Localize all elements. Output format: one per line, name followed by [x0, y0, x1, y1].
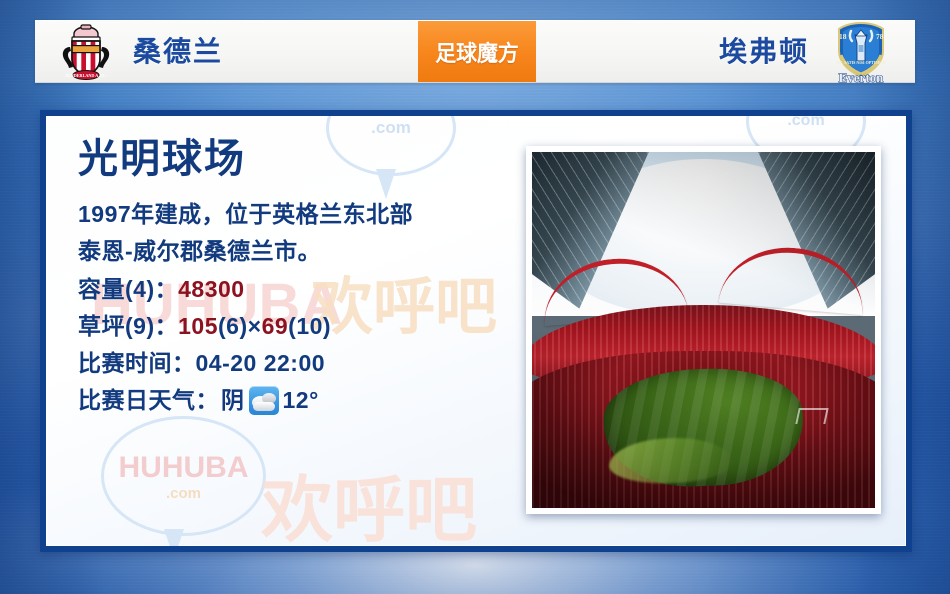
capacity-label: 容量(4)： — [78, 276, 178, 302]
stadium-description-line-2: 泰恩-威尔郡桑德兰市。 — [78, 233, 498, 270]
pitch-times-symbol: × — [248, 313, 262, 339]
stadium-pitch-row: 草坪(9)：105(6)×69(10) — [78, 308, 498, 345]
match-weather-row: 比赛日天气：阴 12° — [78, 382, 498, 419]
match-time-label: 比赛时间： — [78, 350, 196, 376]
watermark-bubble-left: HUHUBA .com — [101, 416, 266, 536]
watermark-domain-left: .com — [166, 485, 201, 502]
pitch-label: 草坪(9)： — [78, 313, 178, 339]
watermark-domain-top: .com — [371, 118, 411, 138]
match-time-row: 比赛时间：04-20 22:00 — [78, 345, 498, 382]
svg-text:Everton: Everton — [839, 70, 885, 83]
stadium-photo-frame[interactable] — [526, 146, 881, 514]
pitch-width-rank: (10) — [288, 313, 331, 339]
match-header-bar: SUNDERLAND A.F.C. 桑德兰 足球魔方 埃弗顿 18 78 — [35, 20, 915, 83]
home-team-name: 桑德兰 — [133, 38, 223, 66]
weather-condition: 阴 — [221, 382, 245, 419]
photo-shading — [532, 152, 875, 508]
stadium-title: 光明球场 — [78, 138, 498, 180]
pitch-width-value: 69 — [262, 313, 289, 339]
site-logo-text: 足球魔方 — [435, 36, 519, 68]
pitch-length-rank: (6) — [218, 313, 248, 339]
svg-text:18: 18 — [839, 32, 847, 41]
svg-text:SUNDERLAND A.F.C.: SUNDERLAND A.F.C. — [65, 73, 106, 78]
away-team-name: 埃弗顿 — [719, 38, 809, 66]
watermark-domain-topright: .com — [787, 112, 824, 130]
watermark-brand-en-left: HUHUBA — [119, 451, 249, 485]
stadium-description-line-1: 1997年建成，位于英格兰东北部 — [78, 196, 498, 233]
match-time-value: 04-20 22:00 — [196, 350, 326, 376]
weather-label: 比赛日天气： — [78, 382, 219, 419]
svg-text:NIL SATIS NISI OPTIMUM: NIL SATIS NISI OPTIMUM — [836, 60, 886, 65]
sunderland-crest-icon: SUNDERLAND A.F.C. — [57, 23, 115, 81]
everton-crest-icon: 18 78 NIL SATIS NISI OPTIMUM Everton — [825, 21, 897, 83]
home-team-block[interactable]: SUNDERLAND A.F.C. 桑德兰 — [35, 21, 418, 82]
svg-text:78: 78 — [876, 32, 884, 41]
weather-temperature: 12° — [283, 382, 319, 419]
cloudy-icon — [249, 386, 279, 415]
capacity-value: 48300 — [178, 276, 244, 302]
stadium-photo — [532, 152, 875, 508]
stadium-capacity-row: 容量(4)：48300 — [78, 271, 498, 308]
away-team-block[interactable]: 埃弗顿 18 78 NIL SATIS NISI OPTIMUM Everton — [536, 21, 915, 82]
site-logo[interactable]: 足球魔方 — [418, 21, 536, 82]
stadium-info-column: 光明球场 1997年建成，位于英格兰东北部 泰恩-威尔郡桑德兰市。 容量(4)：… — [78, 138, 498, 420]
stadium-info-panel: .com .com HUHUBA .com HUHUBA 欢呼吧 欢呼吧 欢呼吧… — [40, 110, 912, 552]
pitch-length-value: 105 — [178, 313, 218, 339]
watermark-brand-cn-bottom: 欢呼吧 — [261, 451, 477, 552]
